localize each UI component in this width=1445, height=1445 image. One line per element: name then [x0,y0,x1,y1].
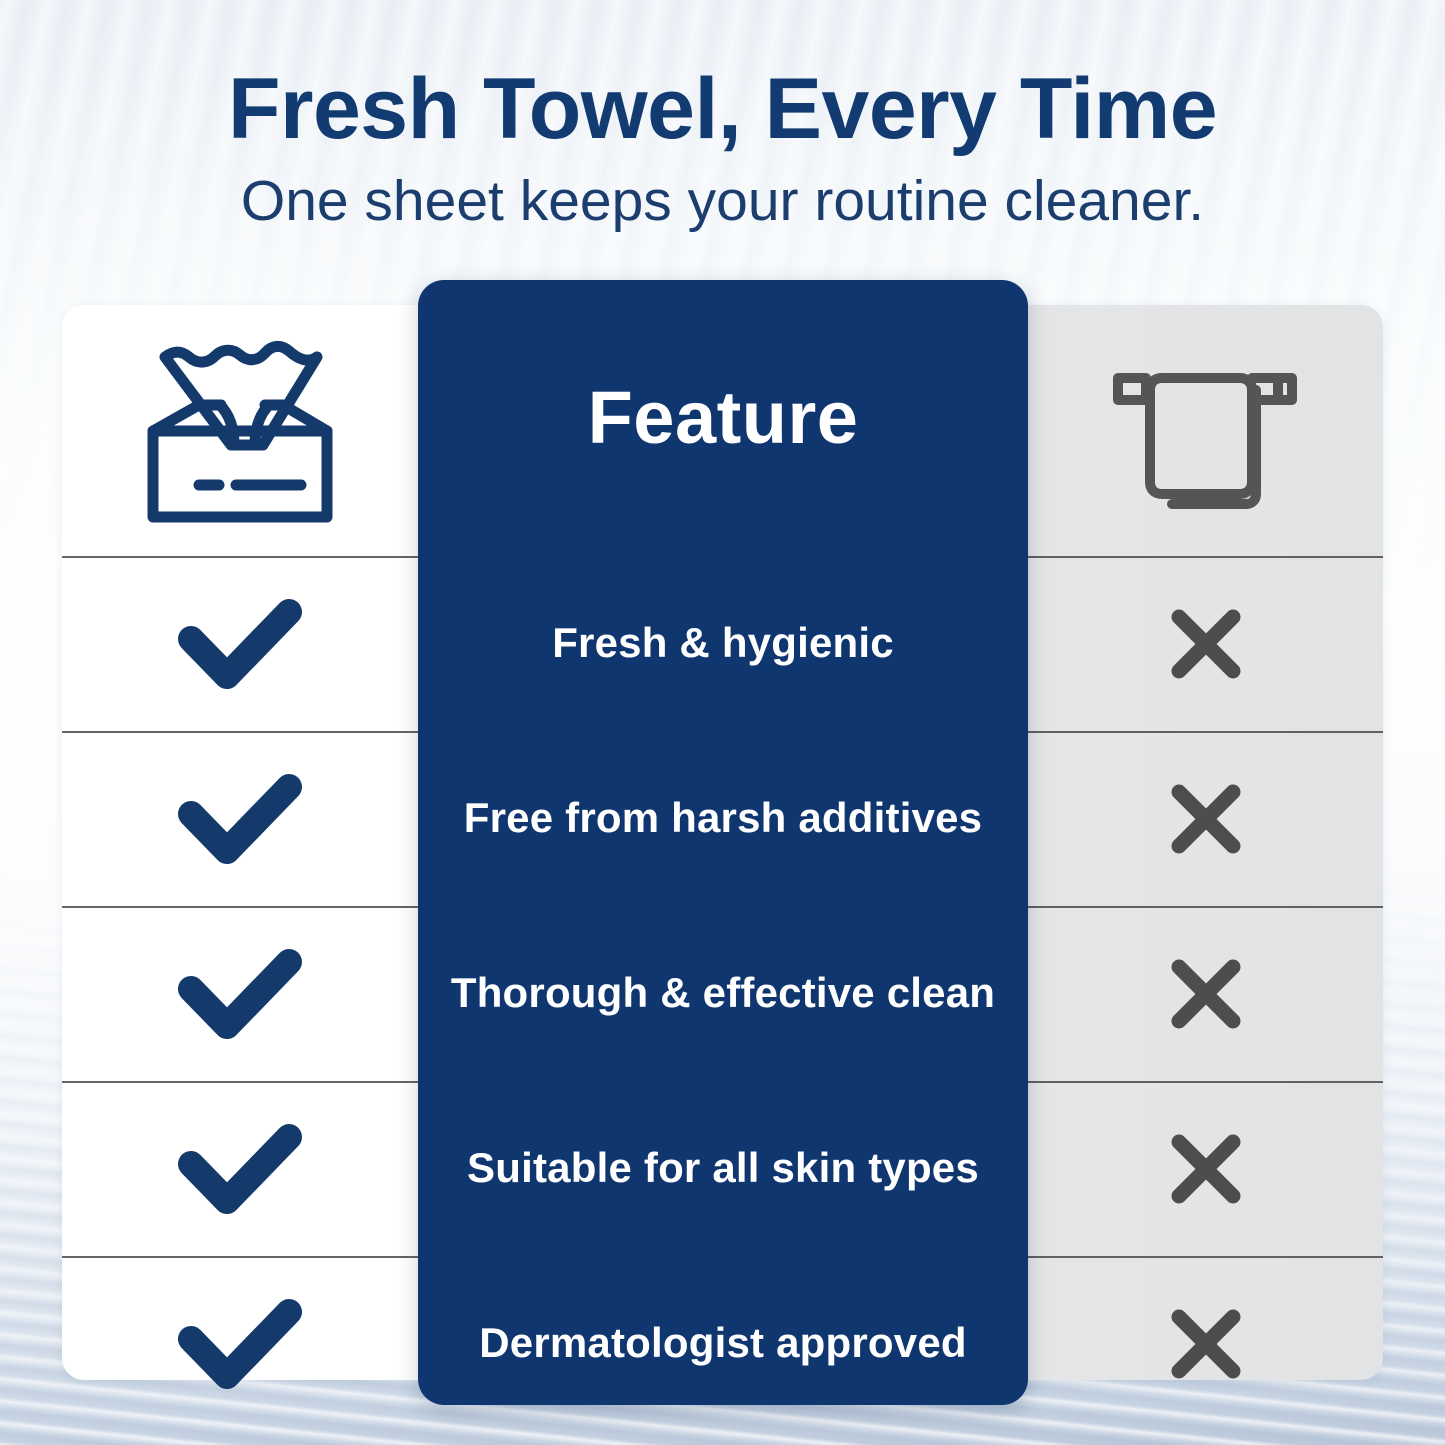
feature-column-card: Feature Fresh & hygienic Free from harsh… [418,280,1028,1405]
left-cell-check [62,731,418,906]
cross-icon [1167,1305,1245,1383]
right-cell-cross [1028,1256,1383,1431]
cross-icon [1167,605,1245,683]
feature-column-header-label: Feature [588,375,859,460]
feature-label: Dermatologist approved [479,1319,966,1367]
check-icon [175,1294,305,1394]
feature-row-label-cell: Free from harsh additives [418,731,1028,906]
header: Fresh Towel, Every Time One sheet keeps … [0,66,1445,232]
feature-label: Free from harsh additives [464,794,983,842]
feature-row-label-cell: Fresh & hygienic [418,556,1028,731]
feature-label: Thorough & effective clean [451,969,995,1017]
feature-row-label-cell: Dermatologist approved [418,1256,1028,1431]
cross-icon [1167,1130,1245,1208]
right-cell-cross [1028,1081,1383,1256]
comparison-table: Feature Fresh & hygienic Free from harsh… [62,305,1383,1380]
page-title: Fresh Towel, Every Time [0,66,1445,154]
right-column-header-cell [1028,305,1383,556]
left-cell-check [62,556,418,731]
check-icon [175,594,305,694]
left-cell-check [62,1256,418,1431]
feature-column-header: Feature [418,280,1028,555]
feature-row-label-cell: Suitable for all skin types [418,1081,1028,1256]
check-icon [175,944,305,1044]
feature-row-label-cell: Thorough & effective clean [418,906,1028,1081]
right-cell-cross [1028,731,1383,906]
page-subtitle: One sheet keeps your routine cleaner. [0,170,1445,233]
cross-icon [1167,780,1245,858]
feature-label: Fresh & hygienic [552,619,894,667]
check-icon [175,769,305,869]
right-cell-cross [1028,906,1383,1081]
cross-icon [1167,955,1245,1033]
left-column-header-cell [62,305,418,556]
comparison-infographic: Fresh Towel, Every Time One sheet keeps … [0,0,1445,1445]
feature-label: Suitable for all skin types [467,1144,979,1192]
towel-on-rack-icon [1106,342,1306,520]
left-cell-check [62,906,418,1081]
left-cell-check [62,1081,418,1256]
tissue-box-icon [135,333,345,529]
right-cell-cross [1028,556,1383,731]
check-icon [175,1119,305,1219]
